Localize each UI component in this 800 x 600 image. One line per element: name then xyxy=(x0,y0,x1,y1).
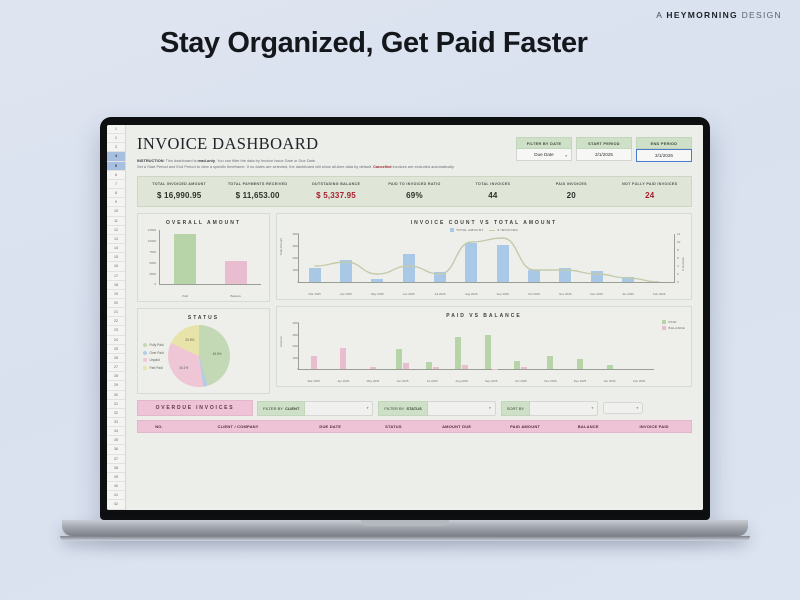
bar-slot-5 xyxy=(447,323,477,369)
bottom-filter-0[interactable]: FILTER BYCLIENT▾ xyxy=(257,401,373,416)
date-filter-value-0[interactable]: Due Date▾ xyxy=(516,149,572,161)
kpi-value-2: $ 5,337.95 xyxy=(297,191,375,200)
legend-label: Over Paid xyxy=(150,351,164,355)
row-number-26[interactable]: 26 xyxy=(107,354,125,363)
bar-slot-3 xyxy=(388,323,418,369)
chart-overall-amount: OVERALL AMOUNT 02500500075001000012500Pa… xyxy=(137,213,270,302)
y-tick: 12500 xyxy=(148,228,156,232)
chart-overall-amount-plot: 02500500075001000012500PaidBalance xyxy=(143,229,264,298)
x-tick-label: Feb 2026 xyxy=(624,379,654,383)
chevron-down-icon: ▾ xyxy=(591,406,593,410)
chevron-down-icon: ▾ xyxy=(489,406,491,410)
row-number-25[interactable]: 25 xyxy=(107,345,125,354)
row-number-22[interactable]: 22 xyxy=(107,317,125,326)
x-tick-label: Apr 2025 xyxy=(329,379,359,383)
row-number-38[interactable]: 38 xyxy=(107,464,125,473)
row-number-21[interactable]: 21 xyxy=(107,308,125,317)
legend-swatch xyxy=(143,351,147,355)
bar xyxy=(433,367,439,369)
row-number-11[interactable]: 11 xyxy=(107,217,125,226)
brand-suffix: DESIGN xyxy=(742,10,782,20)
bottom-filter-2[interactable]: SORT BY▾ xyxy=(501,401,598,416)
legend-label: Part Paid xyxy=(150,366,163,370)
bar-slot-10 xyxy=(595,323,625,369)
date-filter-2[interactable]: END PERIOD3/1/2026 xyxy=(636,137,692,162)
row-number-10[interactable]: 10 xyxy=(107,207,125,216)
bar xyxy=(492,369,498,370)
kpi-card-1: TOTAL PAYMENTS RECEIVED$ 11,653.00 xyxy=(218,182,296,200)
legend-item---invoices: # INVOICES xyxy=(489,228,517,232)
row-number-37[interactable]: 37 xyxy=(107,455,125,464)
legend-swatch xyxy=(662,320,666,324)
row-number-34[interactable]: 34 xyxy=(107,427,125,436)
y-tick: 7500 xyxy=(149,250,156,254)
instruction-readonly: read-only xyxy=(197,158,215,163)
row-number-6[interactable]: 6 xyxy=(107,171,125,180)
bar-slot-9 xyxy=(565,323,595,369)
y2-tick: 10 xyxy=(677,240,680,244)
laptop-screen: 1234567891011121314151617181920212223242… xyxy=(107,125,703,510)
x-tick-label: Balance xyxy=(211,294,262,298)
instruction-1a: : This dashboard is xyxy=(164,158,198,163)
legend-label: TOTAL AMOUNT xyxy=(456,228,483,232)
row-number-28[interactable]: 28 xyxy=(107,372,125,381)
row-number-36[interactable]: 36 xyxy=(107,445,125,454)
instruction-cancelled: Cancelled xyxy=(373,164,391,169)
x-axis-labels: Mar 2025Apr 2025May 2025Jun 2025Jul 2025… xyxy=(299,379,654,383)
y-tick: 2500 xyxy=(149,272,156,276)
pie-slice-label: 20.5% xyxy=(185,338,194,342)
kpi-card-5: PAID INVOICES20 xyxy=(532,182,610,200)
legend-item-fully-paid: Fully Paid xyxy=(143,343,164,347)
table-header-balance[interactable]: BALANCE xyxy=(559,421,617,432)
kpi-card-6: NOT FULLY PAID INVOICES24 xyxy=(611,182,689,200)
chevron-down-icon: ▾ xyxy=(367,406,369,410)
legend-item-over-paid: Over Paid xyxy=(143,351,164,355)
promo-headline: Stay Organized, Get Paid Faster xyxy=(160,27,588,60)
kpi-label-0: TOTAL INVOICED AMOUNT xyxy=(140,182,218,187)
row-header-gutter[interactable]: 1234567891011121314151617181920212223242… xyxy=(107,125,126,510)
x-axis-labels: PaidBalance xyxy=(160,294,261,298)
x-tick-label: Paid xyxy=(160,294,211,298)
kpi-label-1: TOTAL PAYMENTS RECEIVED xyxy=(218,182,296,187)
bar-group xyxy=(160,230,261,284)
legend-label: Fully Paid xyxy=(150,343,164,347)
x-tick-label: Mar 2025 xyxy=(299,379,329,383)
legend-swatch xyxy=(489,230,495,231)
kpi-label-6: NOT FULLY PAID INVOICES xyxy=(611,182,689,187)
bar xyxy=(462,365,468,370)
kpi-card-3: PAID TO INVOICED RATIO69% xyxy=(375,182,453,200)
date-filter-label-1: START PERIOD xyxy=(576,137,632,149)
y2-tick: 6 xyxy=(677,256,679,260)
row-number-20[interactable]: 20 xyxy=(107,299,125,308)
bar-slot-8 xyxy=(536,323,566,369)
pie-slice-label: 34.1% xyxy=(179,366,188,370)
y-tick: 0 xyxy=(154,282,156,286)
y-tick: 10000 xyxy=(148,239,156,243)
table-header-due-date[interactable]: DUE DATE xyxy=(296,421,364,432)
x-tick-label: Jul 2025 xyxy=(417,379,447,383)
dashboard-canvas: INVOICE DASHBOARD INSTRUCTION: This dash… xyxy=(126,125,703,510)
legend-swatch xyxy=(143,358,147,362)
bar xyxy=(547,356,553,370)
x-tick-label: Apr 2025 xyxy=(330,292,361,296)
row-number-7[interactable]: 7 xyxy=(107,180,125,189)
pie-slice-label: 45.5% xyxy=(213,352,222,356)
bar xyxy=(514,361,520,369)
row-number-33[interactable]: 33 xyxy=(107,418,125,427)
x-tick-label: Dec 2025 xyxy=(565,379,595,383)
x-tick-label: Aug 2025 xyxy=(456,292,487,296)
bar-slot-2 xyxy=(358,323,388,369)
x-tick-label: Nov 2025 xyxy=(550,292,581,296)
row-number-9[interactable]: 9 xyxy=(107,198,125,207)
y2-axis-label: # Invoices xyxy=(681,258,685,272)
row-number-35[interactable]: 35 xyxy=(107,436,125,445)
chart-invoice-count-plot: TOTAL AMOUNT# INVOICESTotal Amount010002… xyxy=(282,228,686,296)
row-number-31[interactable]: 31 xyxy=(107,400,125,409)
overdue-invoices-title: OVERDUE INVOICES xyxy=(137,400,253,416)
row-number-4[interactable]: 4 xyxy=(107,152,125,161)
x-axis-labels: Mar 2025Apr 2025May 2025Jun 2025Jul 2025… xyxy=(299,292,675,296)
line-series xyxy=(299,234,675,282)
bottom-filter-select-0[interactable]: ▾ xyxy=(305,401,373,416)
date-filter-0[interactable]: FILTER BY DATEDue Date▾ xyxy=(516,137,572,162)
brand-name: HEYMORNING xyxy=(666,10,738,20)
table-header-invoice-paid[interactable]: INVOICE PAID xyxy=(617,421,691,432)
bar-slot-1 xyxy=(329,323,359,369)
row-number-24[interactable]: 24 xyxy=(107,336,125,345)
x-tick-label: Sep 2025 xyxy=(487,292,518,296)
x-tick-label: Aug 2025 xyxy=(447,379,477,383)
row-number-39[interactable]: 39 xyxy=(107,473,125,482)
label-plain: SORT BY xyxy=(507,406,524,411)
laptop-lid: 1234567891011121314151617181920212223242… xyxy=(100,117,710,520)
x-tick-label: Mar 2025 xyxy=(299,292,330,296)
label-plain: FILTER BY xyxy=(384,406,404,411)
chart-status: STATUS Fully PaidOver PaidUnpaidPart Pai… xyxy=(137,308,270,394)
row-number-29[interactable]: 29 xyxy=(107,381,125,390)
instruction-keyword: INSTRUCTION xyxy=(137,158,164,163)
date-filter-group[interactable]: FILTER BY DATEDue Date▾START PERIOD3/1/2… xyxy=(516,134,692,162)
extra-dropdown[interactable]: ▾ xyxy=(603,402,643,414)
chevron-down-icon: ▾ xyxy=(565,154,567,158)
y2-axis-line xyxy=(674,234,675,283)
legend-item-paid: PAID xyxy=(662,320,676,324)
x-tick-label: Jul 2025 xyxy=(424,292,455,296)
date-filter-label-0: FILTER BY DATE xyxy=(516,137,572,149)
x-tick-label: May 2025 xyxy=(358,379,388,383)
kpi-card-0: TOTAL INVOICED AMOUNT$ 16,990.95 xyxy=(140,182,218,200)
row-number-12[interactable]: 12 xyxy=(107,226,125,235)
legend-item-total-amount: TOTAL AMOUNT xyxy=(450,228,483,232)
bar xyxy=(174,234,196,284)
legend-label: Unpaid xyxy=(150,358,160,362)
bar-group xyxy=(299,323,654,369)
row-number-40[interactable]: 40 xyxy=(107,482,125,491)
row-number-32[interactable]: 32 xyxy=(107,409,125,418)
x-tick-label: Jun 2025 xyxy=(393,292,424,296)
row-number-13[interactable]: 13 xyxy=(107,235,125,244)
chart-title-paid-vs-balance: PAID VS BALANCE xyxy=(282,311,686,322)
x-tick-label: Oct 2025 xyxy=(506,379,536,383)
legend-swatch xyxy=(662,326,666,330)
row-number-5[interactable]: 5 xyxy=(107,162,125,171)
y2-tick: 12 xyxy=(677,232,680,236)
status-legend: Fully PaidOver PaidUnpaidPart Paid xyxy=(143,343,164,370)
x-tick-label: May 2025 xyxy=(362,292,393,296)
row-number-23[interactable]: 23 xyxy=(107,326,125,335)
y2-tick: 2 xyxy=(677,272,679,276)
chart-legend: TOTAL AMOUNT# INVOICES xyxy=(282,228,686,232)
spreadsheet: 1234567891011121314151617181920212223242… xyxy=(107,125,703,510)
bar xyxy=(455,337,461,369)
label-bold: CLIENT xyxy=(285,406,299,411)
date-filter-label-2: END PERIOD xyxy=(636,137,692,149)
row-number-17[interactable]: 17 xyxy=(107,272,125,281)
chart-legend: PAIDBALANCE xyxy=(662,320,685,330)
table-header-no[interactable]: NO. xyxy=(138,421,180,432)
bottom-filter-label-1: FILTER BYSTATUS xyxy=(378,401,427,416)
row-number-1[interactable]: 1 xyxy=(107,125,125,134)
bar xyxy=(577,359,583,369)
bar xyxy=(311,356,317,370)
date-filter-value-1[interactable]: 3/1/2025 xyxy=(576,149,632,161)
bar xyxy=(370,367,376,370)
instruction-1b: . You can filter the data by Invoice Iss… xyxy=(215,158,316,163)
bar-slot-1 xyxy=(211,230,262,284)
bottom-filter-select-2[interactable]: ▾ xyxy=(530,401,598,416)
x-tick-label: Jan 2026 xyxy=(595,379,625,383)
charts-area: OVERALL AMOUNT 02500500075001000012500Pa… xyxy=(137,213,692,394)
instruction-2a: Set a Start Period and End Period to vie… xyxy=(137,164,373,169)
legend-label: PAID xyxy=(668,320,676,324)
bar xyxy=(225,261,247,284)
y2-tick: 0 xyxy=(677,280,679,284)
brand-prefix: A xyxy=(656,10,663,20)
label-bold: STATUS xyxy=(406,406,421,411)
bar xyxy=(403,363,409,370)
legend-item-unpaid: Unpaid xyxy=(143,358,164,362)
legend-label: # INVOICES xyxy=(497,228,517,232)
legend-swatch xyxy=(143,366,147,370)
kpi-card-4: TOTAL INVOICES44 xyxy=(454,182,532,200)
kpi-value-4: 44 xyxy=(454,191,532,200)
bar xyxy=(607,365,613,369)
chart-paid-vs-balance-plot: Amount01000200030004000Mar 2025Apr 2025M… xyxy=(282,322,686,383)
row-number-2[interactable]: 2 xyxy=(107,134,125,143)
bar-slot-11 xyxy=(624,323,654,369)
bar xyxy=(521,367,527,370)
y-axis-label: Amount xyxy=(279,337,283,347)
row-number-8[interactable]: 8 xyxy=(107,189,125,198)
y2-tick: 4 xyxy=(677,264,679,268)
y-tick: 5000 xyxy=(149,261,156,265)
table-header-paid-amount[interactable]: PAID AMOUNT xyxy=(491,421,559,432)
instruction-text: INSTRUCTION: This dashboard is read-only… xyxy=(137,158,516,170)
pie-slices: 45.5%34.1%20.5% xyxy=(168,325,230,387)
row-number-19[interactable]: 19 xyxy=(107,290,125,299)
bar-slot-0 xyxy=(160,230,211,284)
bar-slot-0 xyxy=(299,323,329,369)
row-number-30[interactable]: 30 xyxy=(107,391,125,400)
overdue-filter-bar: OVERDUE INVOICES FILTER BYCLIENT▾FILTER … xyxy=(137,400,692,416)
kpi-card-2: OUTSTADING BALANCE$ 5,337.95 xyxy=(297,182,375,200)
bar xyxy=(426,362,432,369)
date-filter-1[interactable]: START PERIOD3/1/2025 xyxy=(576,137,632,162)
x-tick-label: Jun 2025 xyxy=(388,379,418,383)
x-tick-label: Feb 2026 xyxy=(644,292,675,296)
bar xyxy=(340,348,346,370)
status-pie: 45.5%34.1%20.5% xyxy=(168,325,230,387)
kpi-label-3: PAID TO INVOICED RATIO xyxy=(375,182,453,187)
row-number-27[interactable]: 27 xyxy=(107,363,125,372)
row-number-16[interactable]: 16 xyxy=(107,262,125,271)
row-number-41[interactable]: 41 xyxy=(107,491,125,500)
chevron-down-icon: ▾ xyxy=(636,406,638,410)
row-number-42[interactable]: 42 xyxy=(107,500,125,509)
y-axis-ticks: 02500500075001000012500 xyxy=(143,229,157,293)
bottom-filter-1[interactable]: FILTER BYSTATUS▾ xyxy=(378,401,495,416)
kpi-label-4: TOTAL INVOICES xyxy=(454,182,532,187)
bar-slot-4 xyxy=(417,323,447,369)
bar-slot-6 xyxy=(476,323,506,369)
kpi-value-6: 24 xyxy=(611,191,689,200)
table-header-amount-due[interactable]: AMOUNT DUE xyxy=(422,421,490,432)
row-number-14[interactable]: 14 xyxy=(107,244,125,253)
legend-item-part-paid: Part Paid xyxy=(143,366,164,370)
bottom-filter-label-0: FILTER BYCLIENT xyxy=(257,401,305,416)
legend-swatch xyxy=(143,343,147,347)
kpi-value-3: 69% xyxy=(375,191,453,200)
legend-item-balance: BALANCE xyxy=(662,326,685,330)
chart-paid-vs-balance: PAID VS BALANCE Amount01000200030004000M… xyxy=(276,306,692,387)
x-tick-label: Oct 2025 xyxy=(518,292,549,296)
table-header-client-company[interactable]: CLIENT / COMPANY xyxy=(180,421,296,432)
chart-invoice-count-vs-total-amount: INVOICE COUNT VS TOTAL AMOUNT TOTAL AMOU… xyxy=(276,213,692,300)
x-tick-label: Nov 2025 xyxy=(536,379,566,383)
y-axis-label: Total Amount xyxy=(279,238,283,255)
instruction-2b: invoices are excluded automatically. xyxy=(392,164,455,169)
bottom-filter-select-1[interactable]: ▾ xyxy=(428,401,496,416)
y2-tick: 8 xyxy=(677,248,679,252)
kpi-value-0: $ 16,990.95 xyxy=(140,191,218,200)
kpi-band: TOTAL INVOICED AMOUNT$ 16,990.95TOTAL PA… xyxy=(137,176,692,207)
page-title: INVOICE DASHBOARD xyxy=(137,134,516,154)
kpi-label-5: PAID INVOICES xyxy=(532,182,610,187)
date-filter-value-2[interactable]: 3/1/2026 xyxy=(636,149,692,162)
kpi-value-1: $ 11,653.00 xyxy=(218,191,296,200)
laptop-base-shadow xyxy=(60,536,750,541)
table-header-status[interactable]: STATUS xyxy=(364,421,422,432)
x-tick-label: Sep 2025 xyxy=(476,379,506,383)
row-number-18[interactable]: 18 xyxy=(107,281,125,290)
chart-title-overall-amount: OVERALL AMOUNT xyxy=(143,218,264,229)
laptop-notch xyxy=(361,520,449,526)
chart-title-status: STATUS xyxy=(143,313,264,324)
label-plain: FILTER BY xyxy=(263,406,283,411)
kpi-value-5: 20 xyxy=(532,191,610,200)
laptop-mockup: 1234567891011121314151617181920212223242… xyxy=(100,117,710,536)
legend-label: BALANCE xyxy=(668,326,685,330)
row-number-15[interactable]: 15 xyxy=(107,253,125,262)
bar-slot-7 xyxy=(506,323,536,369)
bottom-filter-label-2: SORT BY xyxy=(501,401,530,416)
laptop-base xyxy=(62,520,748,536)
x-tick-label: Jan 2026 xyxy=(612,292,643,296)
x-tick-label: Dec 2025 xyxy=(581,292,612,296)
brand-credit: A HEYMORNING DESIGN xyxy=(656,10,782,20)
row-number-3[interactable]: 3 xyxy=(107,143,125,152)
invoice-table-header: NO.CLIENT / COMPANYDUE DATESTATUSAMOUNT … xyxy=(137,420,692,433)
bar xyxy=(396,349,402,369)
bar xyxy=(485,335,491,370)
kpi-label-2: OUTSTADING BALANCE xyxy=(297,182,375,187)
bottom-filter-group: FILTER BYCLIENT▾FILTER BYSTATUS▾SORT BY▾… xyxy=(257,401,643,416)
legend-swatch xyxy=(450,228,454,232)
